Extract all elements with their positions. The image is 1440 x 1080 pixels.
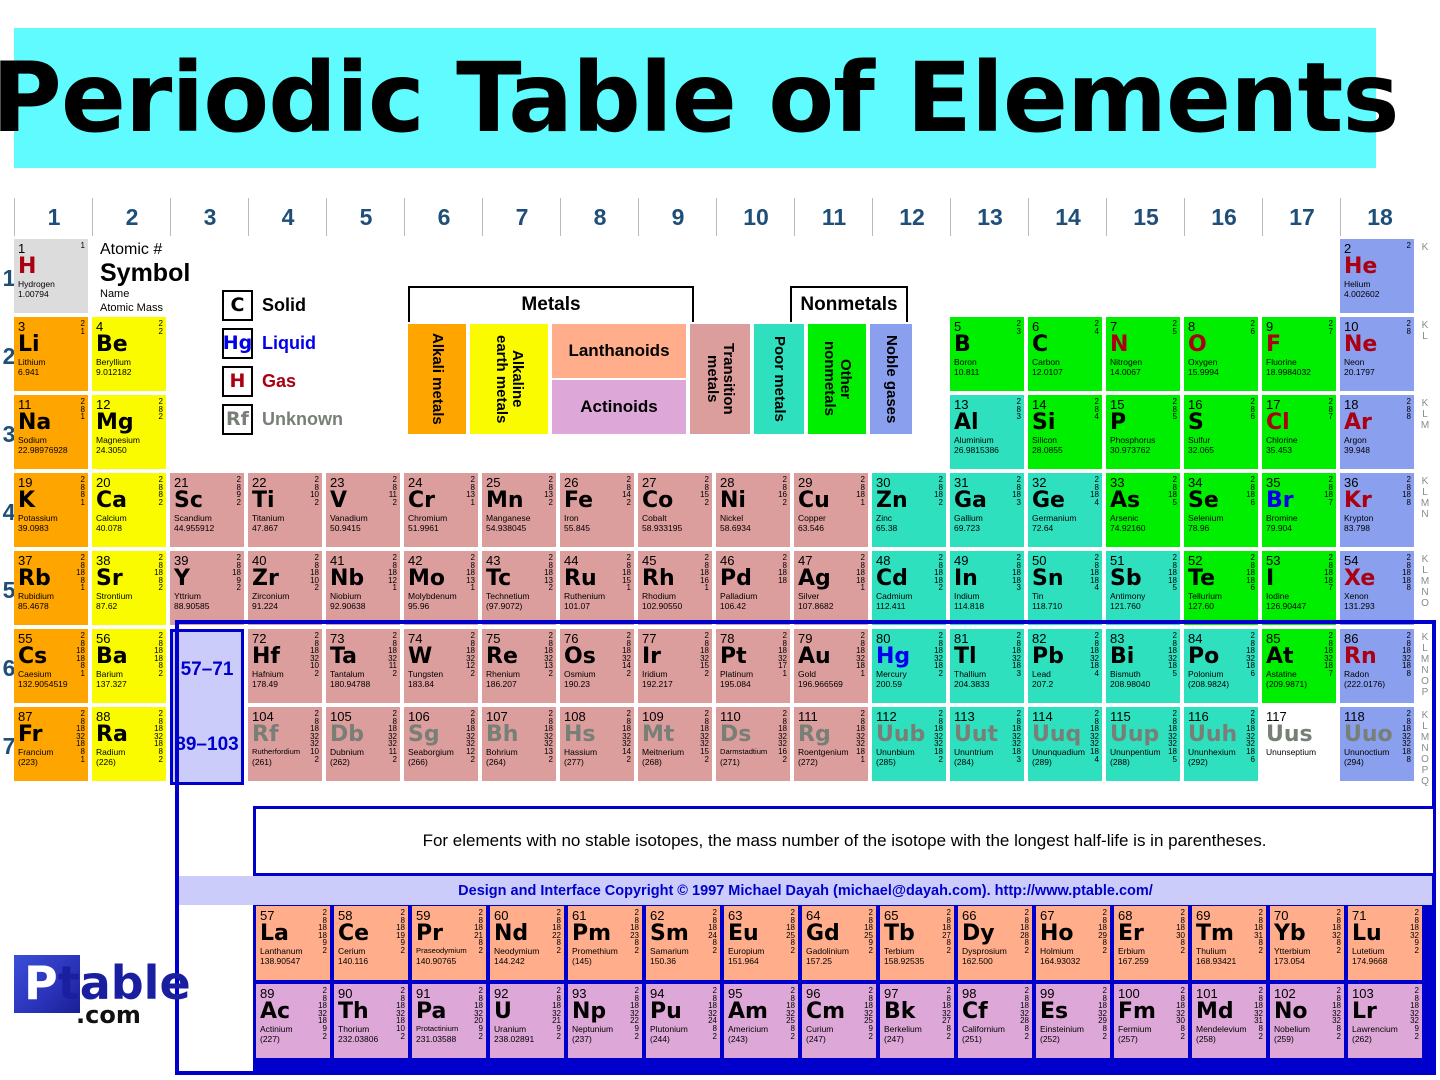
element-cell-W[interactable]: 74WTungsten183.842 8 18 32 12 2 — [404, 629, 478, 703]
element-electron-shells: 2 8 18 32 18 5 — [1168, 632, 1177, 678]
element-cell-K[interactable]: 19KPotassium39.09832 8 8 1 — [14, 473, 88, 547]
group-header-11: 11 — [794, 198, 873, 236]
element-name: Dubnium — [330, 747, 396, 757]
element-cell-Pu[interactable]: 94PuPlutonium(244)2 8 18 32 24 8 2 — [646, 984, 720, 1058]
element-cell-Db[interactable]: 105DbDubnium(262)2 8 18 32 32 11 2 — [326, 707, 400, 781]
element-cell-Tb[interactable]: 65TbTerbium158.925352 8 18 27 8 2 — [880, 906, 954, 980]
element-cell-Cu[interactable]: 29CuCopper63.5462 8 18 1 — [794, 473, 868, 547]
element-electron-shells: 2 8 18 32 32 13 2 — [544, 710, 553, 763]
key-atomic-number-label: Atomic # — [100, 240, 220, 260]
element-atomic-mass: 157.25 — [806, 956, 872, 966]
element-cell-No[interactable]: 102NoNobelium(259)2 8 18 32 32 8 2 — [1270, 984, 1344, 1058]
element-cell-B[interactable]: 5BBoron10.8112 3 — [950, 317, 1024, 391]
shell-label-row-6: K L M N O P — [1414, 629, 1436, 710]
element-symbol: Ra — [96, 723, 162, 746]
element-cell-Fe[interactable]: 26FeIron55.8452 8 14 2 — [560, 473, 634, 547]
element-atomic-mass: 1.00794 — [18, 289, 84, 299]
element-cell-I[interactable]: 53IIodine126.904472 8 18 18 7 — [1262, 551, 1336, 625]
element-electron-shells: 2 8 18 32 14 2 — [622, 632, 631, 678]
element-cell-Pt[interactable]: 78PtPlatinum195.0842 8 18 32 17 1 — [716, 629, 790, 703]
element-cell-Cl[interactable]: 17ClChlorine35.4532 8 7 — [1262, 395, 1336, 469]
state-legend-symbol-unknown: Rf — [222, 404, 253, 435]
element-cell-Fr[interactable]: 87FrFrancium(223)2 8 18 32 18 8 1 — [14, 707, 88, 781]
element-cell-Nd[interactable]: 60NdNeodymium144.2422 8 18 22 8 2 — [490, 906, 564, 980]
element-cell-Rn[interactable]: 86RnRadon(222.0176)2 8 18 32 18 8 — [1340, 629, 1414, 703]
element-electron-shells: 2 8 18 15 1 — [622, 554, 631, 592]
element-atomic-mass: 138.90547 — [260, 956, 326, 966]
element-cell-Mg[interactable]: 12MgMagnesium24.30502 8 2 — [92, 395, 166, 469]
element-electron-shells: 2 8 18 6 — [1246, 476, 1255, 506]
group-header-5: 5 — [326, 198, 405, 236]
element-electron-shells: 2 8 18 32 17 1 — [778, 632, 787, 678]
element-electron-shells: 2 8 2 — [159, 398, 163, 421]
element-name: Hafnium — [252, 669, 318, 679]
shell-label-row-4: K L M N — [1414, 473, 1436, 554]
element-symbol: Ni — [720, 489, 786, 512]
element-symbol: Pa — [416, 1000, 482, 1023]
element-cell-Uus[interactable]: 117UusUnunseptium — [1262, 707, 1336, 781]
page-title-banner: Periodic Table of Elements — [14, 28, 1376, 168]
element-symbol: Po — [1188, 645, 1254, 668]
element-cell-Mo[interactable]: 42MoMolybdenum95.962 8 18 13 1 — [404, 551, 478, 625]
element-electron-shells: 2 8 18 32 21 9 2 — [552, 987, 561, 1040]
shell-label-row-3: K L M — [1414, 395, 1436, 476]
element-atomic-mass: (257) — [1118, 1034, 1184, 1044]
element-atomic-mass: 87.62 — [96, 601, 162, 611]
element-atomic-mass: 85.4678 — [18, 601, 84, 611]
element-atomic-mass: 112.411 — [876, 601, 942, 611]
element-cell-Uub[interactable]: 112UubUnunbium(285)2 8 18 32 32 18 2 — [872, 707, 946, 781]
element-cell-U[interactable]: 92UUranium238.028912 8 18 32 21 9 2 — [490, 984, 564, 1058]
element-cell-Sm[interactable]: 62SmSamarium150.362 8 18 24 8 2 — [646, 906, 720, 980]
element-atomic-mass: (268) — [642, 757, 708, 767]
state-legend-item-solid: CSolid — [222, 286, 343, 324]
element-cell-Tm[interactable]: 69TmThulium168.934212 8 18 31 8 2 — [1192, 906, 1266, 980]
element-atomic-mass: 186.207 — [486, 679, 552, 689]
element-electron-shells: 2 — [1407, 242, 1411, 250]
element-symbol: Uut — [954, 723, 1020, 746]
element-electron-shells: 2 8 18 32 30 8 2 — [1176, 987, 1185, 1040]
element-cell-Pr[interactable]: 59PrPraseodymium140.907652 8 18 21 8 2 — [412, 906, 486, 980]
element-cell-Ir[interactable]: 77IrIridium192.2172 8 18 32 15 2 — [638, 629, 712, 703]
element-electron-shells: 2 8 18 32 18 4 — [1090, 632, 1099, 678]
ptable-logo[interactable]: Ptable .com — [14, 955, 169, 1040]
element-name: Bromine — [1266, 513, 1332, 523]
element-cell-Uuo[interactable]: 118UuoUnunoctium(294)2 8 18 32 32 18 8 — [1340, 707, 1414, 781]
element-cell-Sc[interactable]: 21ScScandium44.9559122 8 9 2 — [170, 473, 244, 547]
element-cell-Mn[interactable]: 25MnManganese54.9380452 8 13 2 — [482, 473, 556, 547]
element-cell-Ag[interactable]: 47AgSilver107.86822 8 18 18 1 — [794, 551, 868, 625]
category-legend-label: Alkali metals — [429, 333, 445, 425]
element-cell-Ra[interactable]: 88RaRadium(226)2 8 18 32 18 8 2 — [92, 707, 166, 781]
element-cell-Hg[interactable]: 80HgMercury200.592 8 18 32 18 2 — [872, 629, 946, 703]
element-symbol: Pd — [720, 567, 786, 590]
element-name: Ununpentium — [1110, 747, 1176, 757]
element-atomic-mass: (244) — [650, 1034, 716, 1044]
element-cell-Sb[interactable]: 51SbAntimony121.7602 8 18 18 5 — [1106, 551, 1180, 625]
element-atomic-mass: (266) — [408, 757, 474, 767]
element-symbol: Sn — [1032, 567, 1098, 590]
element-cell-Br[interactable]: 35BrBromine79.9042 8 18 7 — [1262, 473, 1336, 547]
element-cell-Es[interactable]: 99EsEinsteinium(252)2 8 18 32 29 8 2 — [1036, 984, 1110, 1058]
element-cell-As[interactable]: 33AsArsenic74.921602 8 18 5 — [1106, 473, 1180, 547]
element-cell-Uup[interactable]: 115UupUnunpentium(288)2 8 18 32 32 18 5 — [1106, 707, 1180, 781]
element-cell-Rf[interactable]: 104RfRutherfordium(261)2 8 18 32 32 10 2 — [248, 707, 322, 781]
element-cell-Al[interactable]: 13AlAluminium26.98153862 8 3 — [950, 395, 1024, 469]
element-cell-Lu[interactable]: 71LuLutetium174.96682 8 18 32 9 2 — [1348, 906, 1422, 980]
element-symbol: Ce — [338, 922, 404, 945]
element-atomic-mass: (251) — [962, 1034, 1028, 1044]
element-cell-Ta[interactable]: 73TaTantalum180.947882 8 18 32 11 2 — [326, 629, 400, 703]
element-symbol: Md — [1196, 1000, 1262, 1023]
element-name: Ununseptium — [1266, 747, 1332, 757]
element-cell-La[interactable]: 57LaLanthanum138.905472 8 18 18 9 2 — [256, 906, 330, 980]
element-name: Copper — [798, 513, 864, 523]
element-atomic-mass: (264) — [486, 757, 552, 767]
element-symbol: Tc — [486, 567, 552, 590]
element-electron-shells: 2 2 — [159, 320, 163, 335]
element-cell-Eu[interactable]: 63EuEuropium151.9642 8 18 25 8 2 — [724, 906, 798, 980]
element-electron-shells: 2 8 8 1 — [81, 476, 85, 506]
category-legend-actinoids: Actinoids — [552, 380, 686, 434]
element-name: Erbium — [1118, 946, 1184, 956]
element-cell-Zr[interactable]: 40ZrZirconium91.2242 8 18 10 2 — [248, 551, 322, 625]
element-name: Scandium — [174, 513, 240, 523]
element-name: Ununhexium — [1188, 747, 1254, 757]
element-cell-Pm[interactable]: 61PmPromethium(145)2 8 18 23 8 2 — [568, 906, 642, 980]
element-name: Helium — [1344, 279, 1410, 289]
element-cell-Kr[interactable]: 36KrKrypton83.7982 8 18 8 — [1340, 473, 1414, 547]
element-cell-Sr[interactable]: 38SrStrontium87.622 8 18 8 2 — [92, 551, 166, 625]
element-cell-Cr[interactable]: 24CrChromium51.99612 8 13 1 — [404, 473, 478, 547]
element-electron-shells: 2 8 18 2 — [934, 476, 943, 506]
element-cell-Te[interactable]: 52TeTellurium127.602 8 18 18 6 — [1184, 551, 1258, 625]
legend-key-block: Atomic # Symbol Name Atomic Mass — [100, 240, 220, 315]
element-atomic-mass: 50.9415 — [330, 523, 396, 533]
element-cell-Sn[interactable]: 50SnTin118.7102 8 18 18 4 — [1028, 551, 1102, 625]
element-cell-N[interactable]: 7NNitrogen14.00672 5 — [1106, 317, 1180, 391]
element-name: Gold — [798, 669, 864, 679]
element-cell-Xe[interactable]: 54XeXenon131.2932 8 18 18 8 — [1340, 551, 1414, 625]
element-cell-S[interactable]: 16SSulfur32.0652 8 6 — [1184, 395, 1258, 469]
group-header-18: 18 — [1340, 198, 1419, 236]
element-electron-shells: 2 8 18 32 18 3 — [1012, 632, 1021, 678]
element-cell-Ho[interactable]: 67HoHolmium164.930322 8 18 29 8 2 — [1036, 906, 1110, 980]
element-cell-Ti[interactable]: 22TiTitanium47.8672 8 10 2 — [248, 473, 322, 547]
element-cell-Hs[interactable]: 108HsHassium(277)2 8 18 32 32 14 2 — [560, 707, 634, 781]
element-atomic-mass: 183.84 — [408, 679, 474, 689]
element-cell-Cf[interactable]: 98CfCalifornium(251)2 8 18 32 28 8 2 — [958, 984, 1032, 1058]
element-name: Boron — [954, 357, 1020, 367]
element-atomic-mass: (252) — [1040, 1034, 1106, 1044]
element-atomic-mass: 39.0983 — [18, 523, 84, 533]
element-electron-shells: 2 6 — [1251, 320, 1255, 335]
element-name: Francium — [18, 747, 84, 757]
element-cell-C[interactable]: 6CCarbon12.01072 4 — [1028, 317, 1102, 391]
element-atomic-mass: 40.078 — [96, 523, 162, 533]
element-name: Americium — [728, 1024, 794, 1034]
state-legend-item-gas: HGas — [222, 362, 343, 400]
element-cell-Md[interactable]: 101MdMendelevium(258)2 8 18 32 31 8 2 — [1192, 984, 1266, 1058]
element-atomic-mass: 63.546 — [798, 523, 864, 533]
element-atomic-mass: 131.293 — [1344, 601, 1410, 611]
element-cell-F[interactable]: 9FFluorine18.99840322 7 — [1262, 317, 1336, 391]
element-name: Rhodium — [642, 591, 708, 601]
element-electron-shells: 2 8 18 5 — [1168, 476, 1177, 506]
element-symbol: Hf — [252, 645, 318, 668]
element-cell-Rb[interactable]: 37RbRubidium85.46782 8 18 8 1 — [14, 551, 88, 625]
element-name: Rubidium — [18, 591, 84, 601]
element-atomic-mass: 32.065 — [1188, 445, 1254, 455]
element-atomic-mass: 88.90585 — [174, 601, 240, 611]
element-cell-Be[interactable]: 4BeBeryllium9.0121822 2 — [92, 317, 166, 391]
group-header-1: 1 — [14, 198, 93, 236]
element-electron-shells: 2 8 15 2 — [700, 476, 709, 506]
element-cell-Dy[interactable]: 66DyDysprosium162.5002 8 18 28 8 2 — [958, 906, 1032, 980]
element-cell-Na[interactable]: 11NaSodium22.989769282 8 1 — [14, 395, 88, 469]
element-atomic-mass: 107.8682 — [798, 601, 864, 611]
category-legend-label: Other nonmetals — [821, 341, 853, 416]
element-name: Selenium — [1188, 513, 1254, 523]
element-symbol: Am — [728, 1000, 794, 1023]
element-name: Darmstadtium — [720, 747, 786, 757]
element-cell-Gd[interactable]: 64GdGadolinium157.252 8 18 25 9 2 — [802, 906, 876, 980]
element-cell-Yb[interactable]: 70YbYtterbium173.0542 8 18 32 8 2 — [1270, 906, 1344, 980]
element-atomic-mass: (284) — [954, 757, 1020, 767]
element-atomic-mass: 102.90550 — [642, 601, 708, 611]
element-atomic-mass: 168.93421 — [1196, 956, 1262, 966]
element-symbol: La — [260, 922, 326, 945]
element-cell-Y[interactable]: 39YYttrium88.905852 8 18 9 2 — [170, 551, 244, 625]
element-cell-P[interactable]: 15PPhosphorus30.9737622 8 5 — [1106, 395, 1180, 469]
shell-label-row-5: K L M N O — [1414, 551, 1436, 632]
group-header-14: 14 — [1028, 198, 1107, 236]
element-symbol: Fm — [1118, 1000, 1184, 1023]
element-name: Lithium — [18, 357, 84, 367]
element-atomic-mass: 174.9668 — [1352, 956, 1418, 966]
element-electron-shells: 2 8 18 32 18 7 — [1324, 632, 1333, 678]
element-electron-shells: 2 8 9 2 — [237, 476, 241, 506]
element-symbol: Eu — [728, 922, 794, 945]
element-name: Krypton — [1344, 513, 1410, 523]
element-symbol: Lr — [1352, 1000, 1418, 1023]
nonmetals-group-label: Nonmetals — [790, 286, 908, 322]
group-header-16: 16 — [1184, 198, 1263, 236]
element-symbol: Rn — [1344, 645, 1410, 668]
element-cell-Ga[interactable]: 31GaGallium69.7232 8 18 3 — [950, 473, 1024, 547]
element-symbol: Ag — [798, 567, 864, 590]
element-cell-Au[interactable]: 79AuGold196.9665692 8 18 32 18 1 — [794, 629, 868, 703]
element-name: Terbium — [884, 946, 950, 956]
element-cell-Uuq[interactable]: 114UuqUnunquadium(289)2 8 18 32 32 18 4 — [1028, 707, 1102, 781]
element-cell-Zn[interactable]: 30ZnZinc65.382 8 18 2 — [872, 473, 946, 547]
element-atomic-mass: 196.966569 — [798, 679, 864, 689]
element-electron-shells: 2 8 18 18 2 — [934, 554, 943, 592]
element-atomic-mass: 158.92535 — [884, 956, 950, 966]
element-symbol: B — [954, 333, 1020, 356]
element-cell-Mt[interactable]: 109MtMeitnerium(268)2 8 18 32 32 15 2 — [638, 707, 712, 781]
element-cell-Pb[interactable]: 82PbLead207.22 8 18 32 18 4 — [1028, 629, 1102, 703]
element-name: Vanadium — [330, 513, 396, 523]
element-cell-Bh[interactable]: 107BhBohrium(264)2 8 18 32 32 13 2 — [482, 707, 556, 781]
element-cell-Bi[interactable]: 83BiBismuth208.980402 8 18 32 18 5 — [1106, 629, 1180, 703]
element-name: Ununquadium — [1032, 747, 1098, 757]
key-symbol-label: Symbol — [100, 260, 220, 287]
element-cell-He[interactable]: 2HeHelium4.0026022 — [1340, 239, 1414, 313]
element-cell-Pa[interactable]: 91PaProtactinium231.035882 8 18 32 20 9 … — [412, 984, 486, 1058]
element-symbol: Ge — [1032, 489, 1098, 512]
element-cell-Ne[interactable]: 10NeNeon20.17972 8 — [1340, 317, 1414, 391]
element-cell-Cd[interactable]: 48CdCadmium112.4112 8 18 18 2 — [872, 551, 946, 625]
element-symbol: In — [954, 567, 1020, 590]
element-cell-Lr[interactable]: 103LrLawrencium(262)2 8 18 32 32 9 2 — [1348, 984, 1422, 1058]
element-symbol: V — [330, 489, 396, 512]
element-symbol: Mg — [96, 411, 162, 434]
element-symbol: Bi — [1110, 645, 1176, 668]
element-electron-shells: 2 8 18 16 1 — [700, 554, 709, 592]
element-symbol: Au — [798, 645, 864, 668]
element-cell-V[interactable]: 23VVanadium50.94152 8 11 2 — [326, 473, 400, 547]
element-cell-Li[interactable]: 3LiLithium6.9412 1 — [14, 317, 88, 391]
element-electron-shells: 2 8 18 32 32 12 2 — [466, 710, 475, 763]
element-electron-shells: 2 8 18 12 1 — [388, 554, 397, 592]
element-symbol: Os — [564, 645, 630, 668]
state-legend-symbol-liquid: Hg — [222, 328, 253, 359]
group-header-8: 8 — [560, 198, 639, 236]
element-symbol: As — [1110, 489, 1176, 512]
element-cell-Ba[interactable]: 56BaBarium137.3272 8 18 18 8 2 — [92, 629, 166, 703]
element-atomic-mass: 26.9815386 — [954, 445, 1020, 455]
element-cell-Uut[interactable]: 113UutUnuntrium(284)2 8 18 32 32 18 3 — [950, 707, 1024, 781]
category-legend-alkaline-earth-metals: Alkaline earth metals — [470, 324, 548, 434]
element-atomic-mass: (272) — [798, 757, 864, 767]
element-cell-Tl[interactable]: 81TlThallium204.38332 8 18 32 18 3 — [950, 629, 1024, 703]
element-cell-Bk[interactable]: 97BkBerkelium(247)2 8 18 32 27 8 2 — [880, 984, 954, 1058]
element-symbol: Si — [1032, 411, 1098, 434]
element-cell-Hf[interactable]: 72HfHafnium178.492 8 18 32 10 2 — [248, 629, 322, 703]
element-atomic-mass: 173.054 — [1274, 956, 1340, 966]
element-atomic-mass: (237) — [572, 1034, 638, 1044]
element-cell-Am[interactable]: 95AmAmericium(243)2 8 18 32 25 8 2 — [724, 984, 798, 1058]
element-electron-shells: 2 8 18 32 12 2 — [466, 632, 475, 678]
element-atomic-mass: 200.59 — [876, 679, 942, 689]
element-atomic-mass: 127.60 — [1188, 601, 1254, 611]
element-cell-Rh[interactable]: 45RhRhodium102.905502 8 18 16 1 — [638, 551, 712, 625]
element-cell-At[interactable]: 85AtAstatine(209.9871)2 8 18 32 18 7 — [1262, 629, 1336, 703]
element-cell-Rg[interactable]: 111RgRoentgenium(272)2 8 18 32 32 18 1 — [794, 707, 868, 781]
element-cell-Cm[interactable]: 96CmCurium(247)2 8 18 32 25 9 2 — [802, 984, 876, 1058]
element-cell-Uuh[interactable]: 116UuhUnunhexium(292)2 8 18 32 32 18 6 — [1184, 707, 1258, 781]
element-electron-shells: 2 8 — [1407, 320, 1411, 335]
element-name: Fluorine — [1266, 357, 1332, 367]
element-name: Thallium — [954, 669, 1020, 679]
element-atomic-mass: 92.90638 — [330, 601, 396, 611]
element-symbol: Uuo — [1344, 723, 1410, 746]
element-cell-Sg[interactable]: 106SgSeaborgium(266)2 8 18 32 32 12 2 — [404, 707, 478, 781]
element-cell-Ar[interactable]: 18ArArgon39.9482 8 8 — [1340, 395, 1414, 469]
element-name: Actinium — [260, 1024, 326, 1034]
element-name: Silicon — [1032, 435, 1098, 445]
element-name: Argon — [1344, 435, 1410, 445]
element-cell-Se[interactable]: 34SeSelenium78.962 8 18 6 — [1184, 473, 1258, 547]
element-electron-shells: 2 1 — [81, 320, 85, 335]
element-cell-Po[interactable]: 84PoPolonium(208.9824)2 8 18 32 18 6 — [1184, 629, 1258, 703]
element-name: Bohrium — [486, 747, 552, 757]
element-cell-Ds[interactable]: 110DsDarmstadtium(271)2 8 18 32 32 16 2 — [716, 707, 790, 781]
element-cell-Ca[interactable]: 20CaCalcium40.0782 8 8 2 — [92, 473, 166, 547]
element-name: Ununtrium — [954, 747, 1020, 757]
element-symbol: C — [1032, 333, 1098, 356]
state-legend-item-unknown: RfUnknown — [222, 400, 343, 438]
element-cell-Re[interactable]: 75ReRhenium186.2072 8 18 32 13 2 — [482, 629, 556, 703]
page-title: Periodic Table of Elements — [0, 42, 1398, 154]
element-cell-Fm[interactable]: 100FmFermium(257)2 8 18 32 30 8 2 — [1114, 984, 1188, 1058]
element-symbol: Sm — [650, 922, 716, 945]
element-symbol: K — [18, 489, 84, 512]
element-atomic-mass: 47.867 — [252, 523, 318, 533]
element-electron-shells: 2 8 18 18 5 — [1168, 554, 1177, 592]
element-cell-Ni[interactable]: 28NiNickel58.69342 8 16 2 — [716, 473, 790, 547]
element-electron-shells: 2 8 7 — [1329, 398, 1333, 421]
element-cell-Si[interactable]: 14SiSilicon28.08552 8 4 — [1028, 395, 1102, 469]
element-electron-shells: 2 8 18 18 3 — [1012, 554, 1021, 592]
element-symbol: Ne — [1344, 333, 1410, 356]
element-name: Meitnerium — [642, 747, 708, 757]
element-electron-shells: 2 8 18 18 1 — [856, 554, 865, 592]
element-cell-Tc[interactable]: 43TcTechnetium(97.9072)2 8 18 13 2 — [482, 551, 556, 625]
element-cell-Np[interactable]: 93NpNeptunium(237)2 8 18 32 22 9 2 — [568, 984, 642, 1058]
element-symbol: Te — [1188, 567, 1254, 590]
logo-p: P — [24, 956, 58, 1010]
element-cell-Th[interactable]: 90ThThorium232.038062 8 18 32 18 10 2 — [334, 984, 408, 1058]
element-cell-Ce[interactable]: 58CeCerium140.1162 8 18 19 9 2 — [334, 906, 408, 980]
element-cell-Nb[interactable]: 41NbNiobium92.906382 8 18 12 1 — [326, 551, 400, 625]
element-symbol: Uuq — [1032, 723, 1098, 746]
element-cell-Ac[interactable]: 89AcActinium(227)2 8 18 32 18 9 2 — [256, 984, 330, 1058]
element-symbol: Cu — [798, 489, 864, 512]
state-legend-symbol-gas: H — [222, 366, 253, 397]
element-cell-Ru[interactable]: 44RuRuthenium101.072 8 18 15 1 — [560, 551, 634, 625]
element-cell-Er[interactable]: 68ErErbium167.2592 8 18 30 8 2 — [1114, 906, 1188, 980]
element-name: Gadolinium — [806, 946, 872, 956]
element-atomic-mass: 79.904 — [1266, 523, 1332, 533]
group-header-15: 15 — [1106, 198, 1185, 236]
element-cell-Os[interactable]: 76OsOsmium190.232 8 18 32 14 2 — [560, 629, 634, 703]
element-electron-shells: 2 8 11 2 — [389, 476, 397, 506]
element-cell-Pd[interactable]: 46PdPalladium106.422 8 18 18 — [716, 551, 790, 625]
element-name: Nickel — [720, 513, 786, 523]
element-cell-Co[interactable]: 27CoCobalt58.9331952 8 15 2 — [638, 473, 712, 547]
element-name: Potassium — [18, 513, 84, 523]
lanthanoid-range[interactable]: 57–71 — [170, 629, 244, 707]
element-cell-H[interactable]: 1HHydrogen1.007941 — [14, 239, 88, 313]
element-atomic-mass: 35.453 — [1266, 445, 1332, 455]
copyright-credit: Design and Interface Copyright © 1997 Mi… — [175, 876, 1436, 905]
shell-label-row-2: K L — [1414, 317, 1436, 398]
element-symbol: Es — [1040, 1000, 1106, 1023]
element-symbol: Rb — [18, 567, 84, 590]
element-name: Hydrogen — [18, 279, 84, 289]
element-name: Curium — [806, 1024, 872, 1034]
element-cell-O[interactable]: 8OOxygen15.99942 6 — [1184, 317, 1258, 391]
element-name: Zirconium — [252, 591, 318, 601]
element-cell-In[interactable]: 49InIndium114.8182 8 18 18 3 — [950, 551, 1024, 625]
actinoid-range[interactable]: 89–103 — [170, 707, 244, 785]
element-atomic-mass: (292) — [1188, 757, 1254, 767]
element-cell-Cs[interactable]: 55CsCaesium132.90545192 8 18 18 8 1 — [14, 629, 88, 703]
element-cell-Ge[interactable]: 32GeGermanium72.642 8 18 4 — [1028, 473, 1102, 547]
element-electron-shells: 2 8 18 18 8 2 — [154, 632, 163, 678]
